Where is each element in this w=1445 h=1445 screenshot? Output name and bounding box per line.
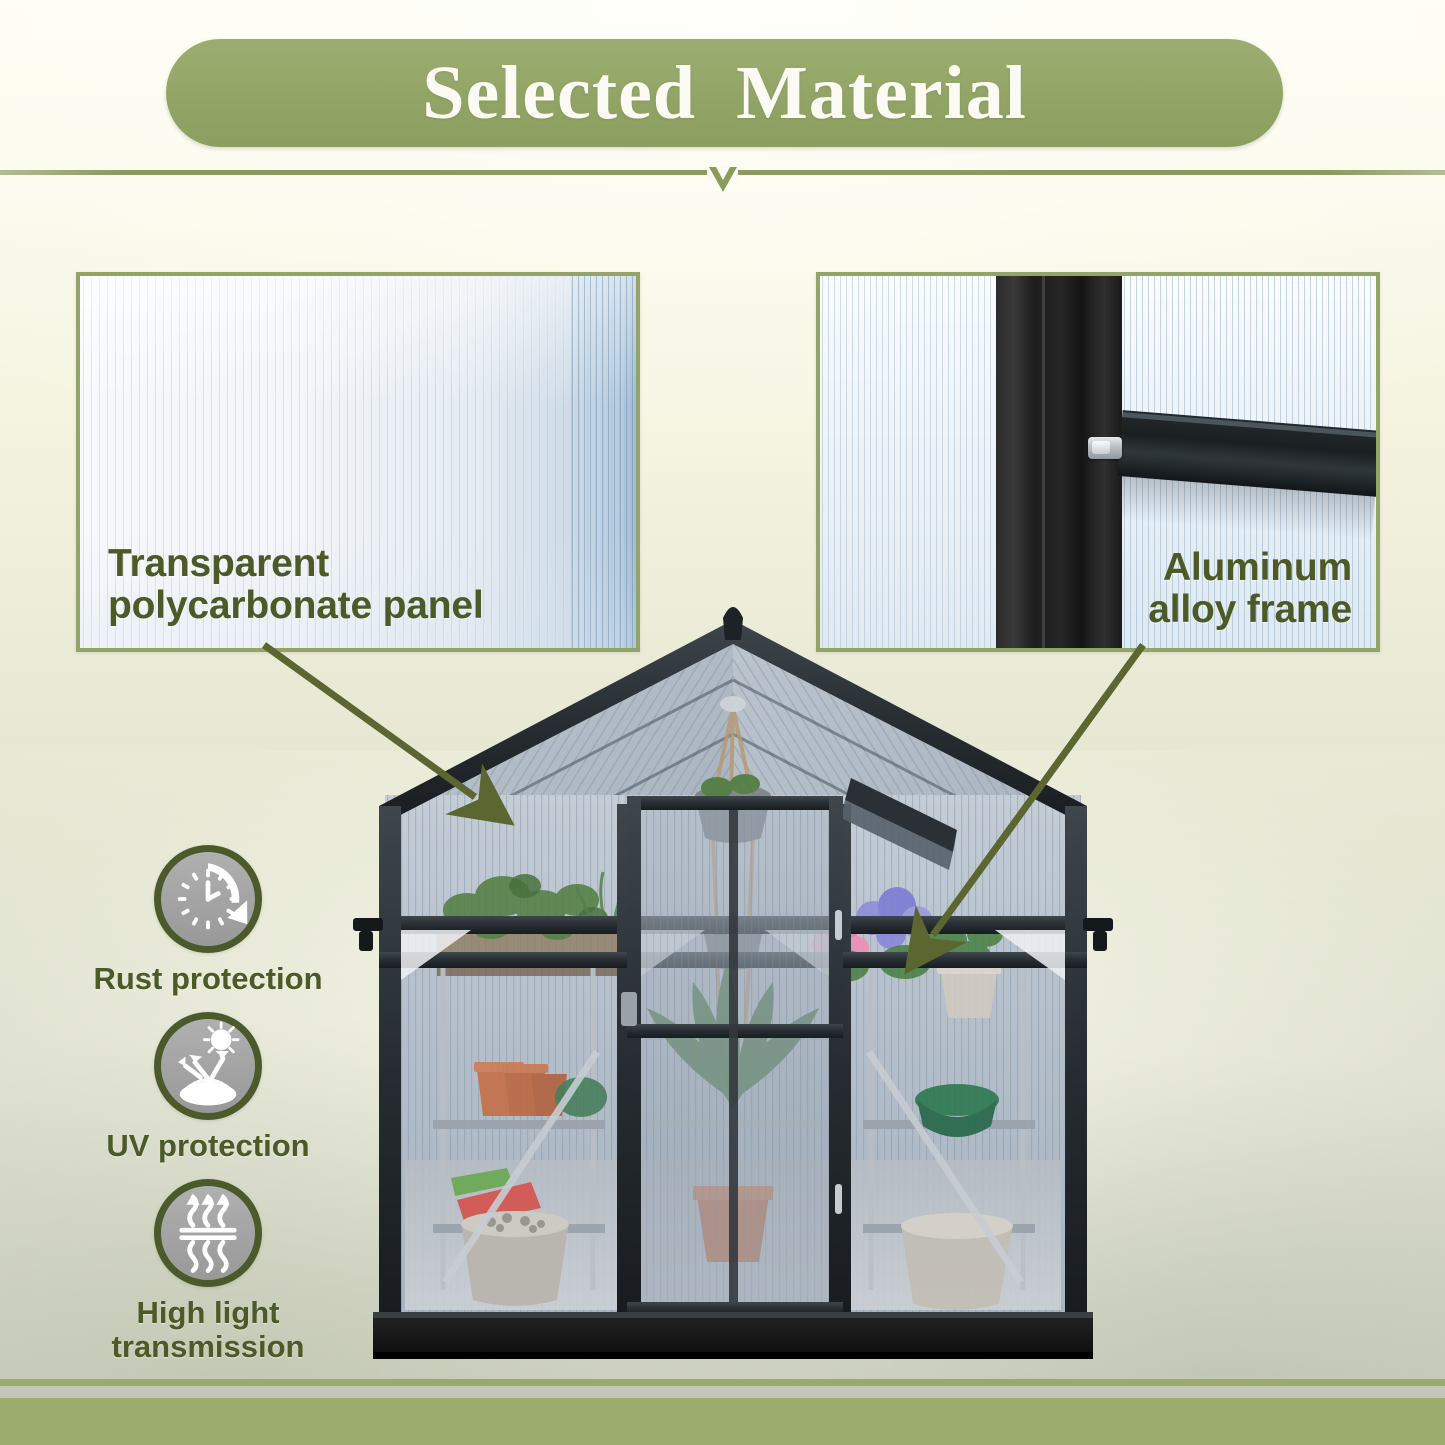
chevron-down-icon (706, 162, 740, 196)
infographic-stage: Selected Material Transparent polycarbon… (0, 0, 1445, 1445)
callout-label-line1: Transparent (108, 543, 483, 584)
page-title-banner: Selected Material (166, 39, 1283, 147)
feature-label-line2: transmission (58, 1330, 358, 1364)
clock-arrow-icon (154, 845, 262, 953)
callout-transparent-polycarbonate-panel: Transparent polycarbonate panel (76, 272, 640, 652)
bottom-thin-rule (0, 1379, 1445, 1386)
feature-high-light-transmission: High light transmission (58, 1179, 358, 1364)
product-greenhouse-image (345, 600, 1120, 1382)
sun-reflect-icon (154, 1012, 262, 1120)
callout-label-line1: Aluminum (1148, 547, 1352, 588)
bottom-gap-band (0, 1386, 1445, 1398)
polycarbonate-panel-edge (570, 276, 636, 648)
feature-label-rust-protection: Rust protection (58, 962, 358, 996)
callout-label-line2: alloy frame (1148, 589, 1352, 630)
feature-uv-protection: UV protection (58, 1012, 358, 1163)
feature-label-uv-protection: UV protection (58, 1129, 358, 1163)
frame-photo-post-groove (1042, 276, 1045, 648)
feature-rust-protection: Rust protection (58, 845, 358, 996)
callout-label-aluminum: Aluminum alloy frame (1148, 547, 1352, 630)
feature-label-line1: High light (58, 1296, 358, 1330)
page-title: Selected Material (422, 55, 1027, 131)
feature-list: Rust protection (58, 845, 358, 1380)
frame-photo-post (996, 276, 1122, 648)
frame-photo-bolt (1088, 437, 1122, 459)
greenhouse-illustration (345, 600, 1120, 1382)
light-transmission-icon (154, 1179, 262, 1287)
bottom-green-bar (0, 1398, 1445, 1445)
callout-aluminum-alloy-frame: Aluminum alloy frame (816, 272, 1380, 652)
feature-label-high-light-transmission: High light transmission (58, 1296, 358, 1364)
